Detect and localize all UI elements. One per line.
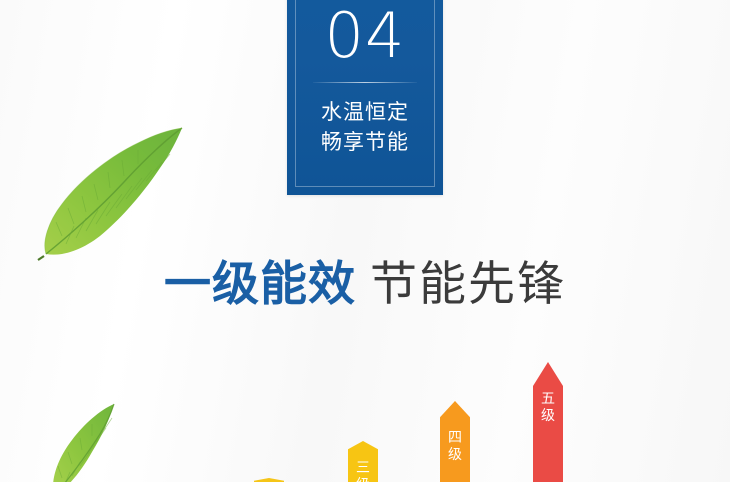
chart-bar-label-char-1: 三 [348, 459, 378, 476]
page-title-emphasis: 一级能效 [164, 257, 356, 310]
chart-bar-label-grade-3: 三级 [348, 459, 378, 482]
chart-bar-shape [348, 441, 378, 482]
chart-bar-label-char-2: 级 [440, 446, 470, 463]
chart-bar-shape [440, 401, 470, 482]
chart-bar-grade-5: 五级 [533, 362, 563, 482]
banner-subtitle: 水温恒定 畅享节能 [287, 98, 443, 158]
chart-bar-shape [254, 478, 284, 482]
chart-bar-shape [533, 362, 563, 482]
banner-subtitle-line1: 水温恒定 [287, 98, 443, 128]
banner-divider [313, 82, 417, 83]
chart-bar-label-char-1: 四 [440, 429, 470, 446]
banner-section-number: 04 [287, 0, 443, 72]
promo-page: 04 水温恒定 畅享节能 一级能效节能先锋 三级 四级 [0, 0, 730, 482]
chart-bar-label-char-1: 五 [533, 390, 563, 407]
banner-subtitle-line2: 畅享节能 [287, 128, 443, 158]
chart-bar-label-grade-5: 五级 [533, 390, 563, 424]
chart-bar-label-grade-4: 四级 [440, 429, 470, 463]
chart-bar-grade-2 [254, 478, 284, 482]
section-banner: 04 水温恒定 畅享节能 [287, 0, 443, 195]
page-title: 一级能效节能先锋 [0, 256, 730, 312]
chart-bar-label-char-2: 级 [533, 407, 563, 424]
chart-bar-grade-3: 三级 [348, 441, 378, 482]
chart-bar-grade-4: 四级 [440, 401, 470, 482]
page-title-rest: 节能先锋 [370, 257, 566, 310]
leaf-icon-bottom [52, 402, 144, 482]
chart-bar-label-char-2: 级 [348, 476, 378, 482]
leaf-icon-top [36, 126, 196, 261]
